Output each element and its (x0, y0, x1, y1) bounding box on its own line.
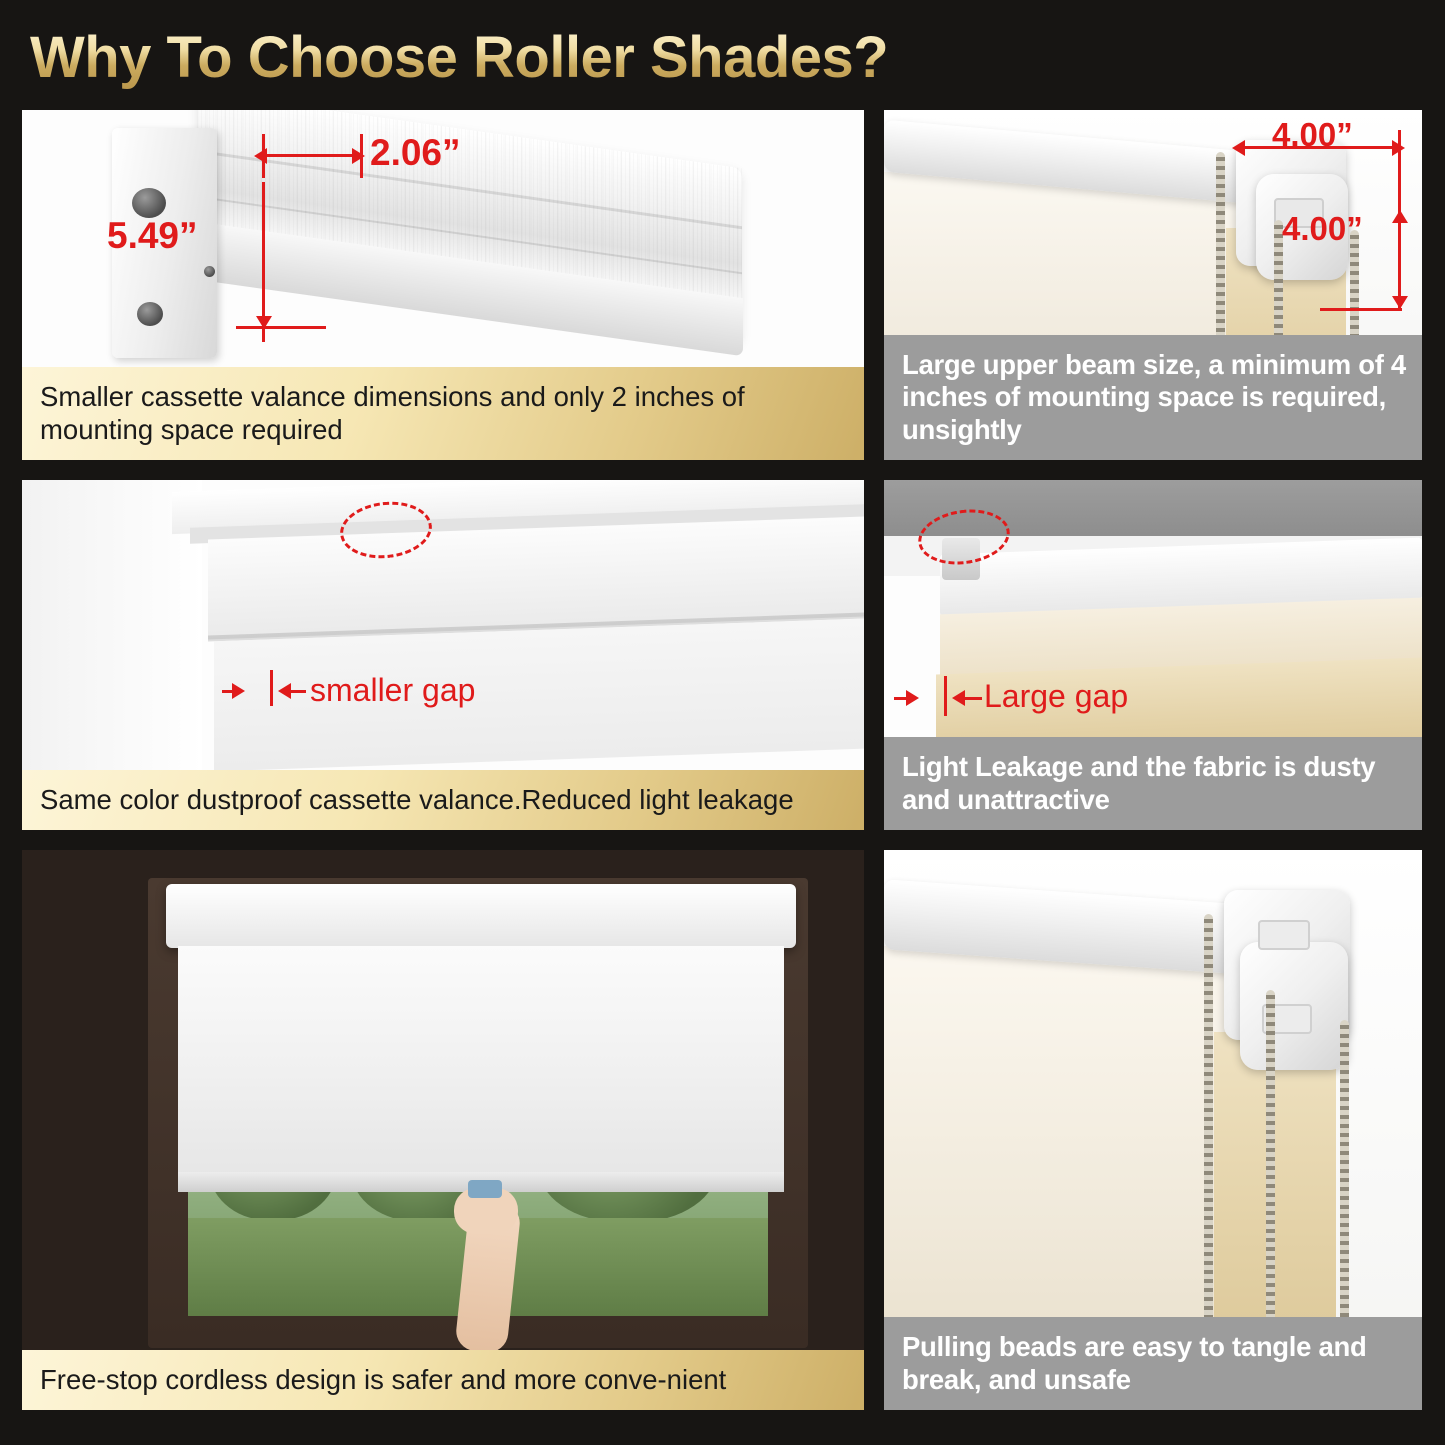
bracket-hole-top (132, 188, 166, 218)
infographic-page: Why To Choose Roller Shades? (0, 0, 1445, 1445)
gap-marker-right (290, 690, 306, 693)
card-dustproof-valance: smaller gap Same color dustproof cassett… (22, 480, 864, 830)
width-dimension-label: 2.06” (370, 132, 461, 174)
card-caption: Light Leakage and the fabric is dusty an… (884, 737, 1422, 830)
gap-marker-bar (270, 670, 273, 706)
gap-marker-left (222, 690, 234, 693)
width-dim-arrow-left (254, 148, 267, 164)
card-light-leakage: Large gap Light Leakage and the fabric i… (884, 480, 1422, 830)
beam-depth-arrow-down (1392, 296, 1408, 309)
card-pulling-beads: Pulling beads are easy to tangle and bre… (884, 850, 1422, 1410)
gap-marker-right (964, 697, 982, 700)
height-dimension-label: 5.49” (107, 215, 198, 257)
photo-cordless-room (22, 850, 864, 1410)
width-dim-line (262, 154, 362, 157)
card-caption: Pulling beads are easy to tangle and bre… (884, 1317, 1422, 1410)
beam-width-arrow-left (1232, 140, 1245, 156)
card-caption: Large upper beam size, a minimum of 4 in… (884, 335, 1422, 460)
bracket-screw (204, 266, 215, 277)
beam-slot-top (1258, 920, 1310, 950)
card-caption: Same color dustproof cassette valance.Re… (22, 770, 864, 830)
card-cassette-valance-dimensions: 2.06” 5.49” Smaller cassette valance dim… (22, 110, 864, 460)
beam-width-ext-right (1398, 130, 1401, 216)
shade-valance (166, 884, 796, 948)
bracket-hole-bottom (137, 302, 163, 326)
height-dim-line-2 (262, 182, 265, 332)
gap-marker-left (894, 697, 908, 700)
card-caption: Smaller cassette valance dimensions and … (22, 367, 864, 460)
width-ext-right (360, 134, 363, 178)
beam-depth-dim-line (1398, 210, 1401, 310)
gap-callout-label: smaller gap (310, 672, 475, 709)
shade-fabric-panel (178, 946, 784, 1178)
card-caption: Free-stop cordless design is safer and m… (22, 1350, 864, 1410)
beam-width-label: 4.00” (1272, 116, 1353, 154)
beam-depth-arrow-up (1392, 210, 1408, 223)
page-title: Why To Choose Roller Shades? (30, 24, 888, 91)
height-dim-arrow-down (256, 316, 272, 329)
height-ext-bottom (236, 326, 326, 329)
gap-marker-bar (944, 676, 947, 716)
width-ext-left (262, 134, 265, 178)
shade-pull-handle (468, 1180, 502, 1198)
card-cordless-design: Free-stop cordless design is safer and m… (22, 850, 864, 1410)
gap-callout-label: Large gap (984, 678, 1128, 715)
card-large-upper-beam: 4.00” 4.00” Large upper beam size, a min… (884, 110, 1422, 460)
width-dim-arrow-right (352, 148, 365, 164)
beam-depth-ext-bottom (1320, 308, 1402, 311)
beam-depth-label: 4.00” (1282, 210, 1363, 248)
